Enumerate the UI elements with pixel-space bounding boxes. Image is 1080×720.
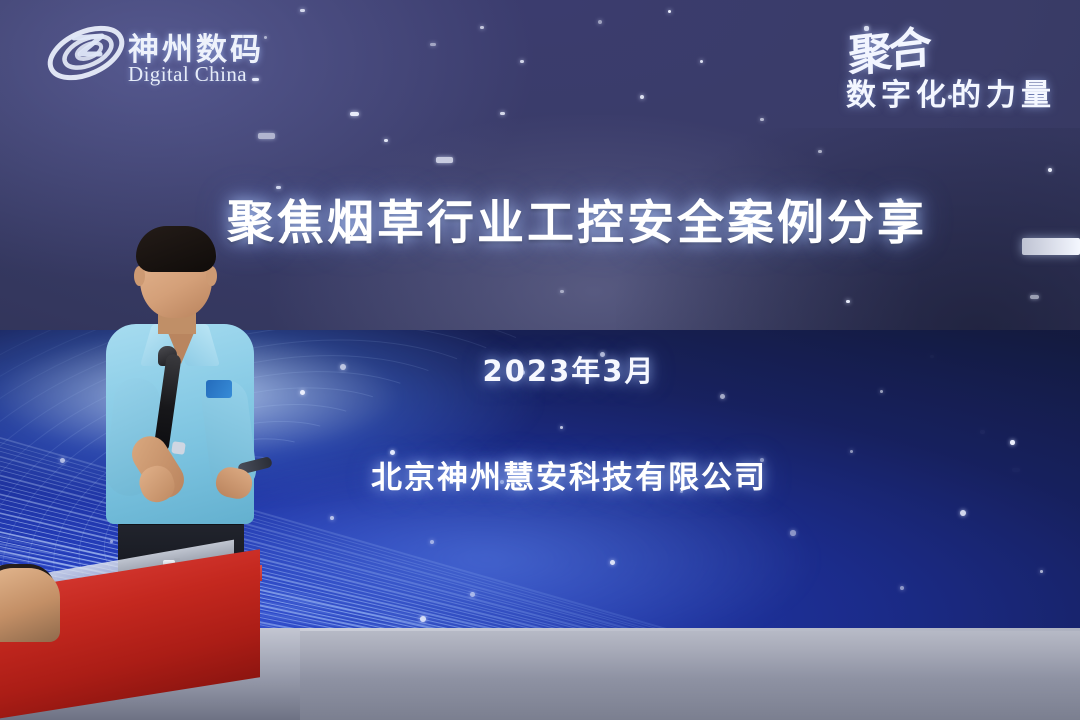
particle-dot bbox=[700, 60, 703, 63]
speaker-shirt-logo bbox=[206, 380, 232, 398]
speaker-hair bbox=[136, 226, 216, 272]
microphone-tip bbox=[171, 441, 186, 455]
particle-dot bbox=[480, 26, 484, 29]
particle-dot bbox=[640, 95, 644, 99]
brand-name-en: Digital China bbox=[128, 62, 247, 87]
wave-sparkle bbox=[1010, 440, 1015, 445]
particle-dot bbox=[384, 139, 388, 142]
wave-sparkle bbox=[610, 560, 615, 565]
particle-dot bbox=[500, 112, 505, 115]
audience-member bbox=[0, 568, 60, 642]
digital-china-swirl-icon bbox=[44, 24, 128, 82]
wave-sparkle bbox=[1040, 570, 1043, 573]
wave-sparkle bbox=[960, 510, 966, 516]
particle-dot bbox=[1048, 168, 1052, 172]
particle-dot bbox=[846, 300, 850, 303]
digital-china-logo: 神州数码 Digital China bbox=[44, 18, 274, 88]
particle-dot bbox=[760, 118, 764, 121]
wave-sparkle bbox=[420, 616, 426, 622]
theme-subtitle: 数字化的力量 bbox=[846, 70, 1056, 114]
conference-photo: 神州数码 Digital China 聚合 数字化的力量 聚焦烟草行业工控安全案… bbox=[0, 0, 1080, 720]
particle-dot bbox=[436, 157, 453, 163]
particle-dot bbox=[598, 20, 602, 24]
particle-dot bbox=[818, 150, 822, 153]
particle-dot bbox=[1030, 295, 1039, 299]
wave-sparkle bbox=[880, 390, 883, 393]
particle-dot bbox=[258, 133, 275, 139]
wave-sparkle bbox=[790, 530, 796, 536]
particle-dot bbox=[430, 43, 436, 46]
event-theme-logo: 聚合 数字化的力量 bbox=[806, 14, 1056, 114]
wave-sparkle bbox=[560, 426, 563, 429]
particle-dot bbox=[668, 10, 671, 13]
particle-dot bbox=[300, 9, 305, 12]
particle-dot bbox=[520, 60, 524, 63]
particle-dot bbox=[350, 112, 359, 116]
particle-dot bbox=[560, 290, 564, 293]
